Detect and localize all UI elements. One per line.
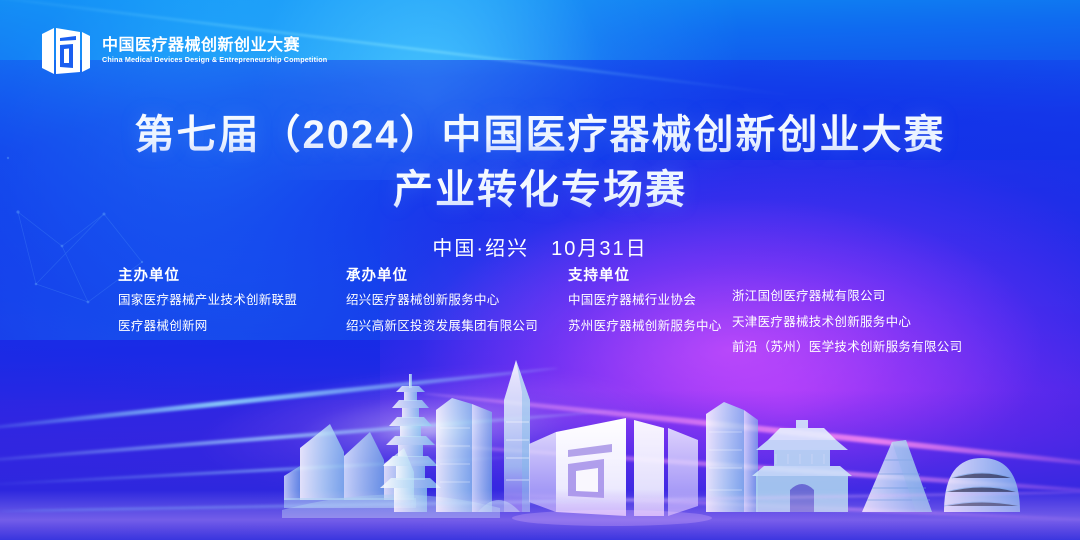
title-line-1: 第七届（2024）中国医疗器械创新创业大赛 [0,108,1080,163]
organizer-item: 中国医疗器械行业协会 [568,294,732,307]
organizer-column-host: 主办单位 国家医疗器械产业技术创新联盟 医疗器械创新网 [118,264,346,345]
organizers-section: 主办单位 国家医疗器械产业技术创新联盟 医疗器械创新网 承办单位 绍兴医疗器械创… [118,264,992,367]
organizer-column-organizer: 承办单位 绍兴医疗器械创新服务中心 绍兴高新区投资发展集团有限公司 [346,264,568,345]
brand-name-cn: 中国医疗器械创新创业大赛 [102,38,337,55]
organizer-heading: 承办单位 [346,264,568,285]
location-date: 中国·绍兴 10月31日 [0,232,1080,261]
open-door-logo-icon [40,26,92,76]
organizer-column-supporter: 支持单位 中国医疗器械行业协会 苏州医疗器械创新服务中心 [568,264,732,345]
brand-logo[interactable]: 中国医疗器械创新创业大赛 China Medical Devices Desig… [40,26,337,76]
organizer-item: 浙江国创医疗器械有限公司 [732,290,992,303]
organizer-item: 绍兴医疗器械创新服务中心 [346,294,568,307]
organizer-item: 国家医疗器械产业技术创新联盟 [118,294,346,307]
organizer-heading: 支持单位 [568,264,732,285]
city-skyline-illustration [0,340,1080,540]
organizer-item: 天津医疗器械技术创新服务中心 [732,316,992,329]
organizer-item: 前沿（苏州）医学技术创新服务有限公司 [732,341,992,354]
organizer-item: 医疗器械创新网 [118,320,346,333]
organizer-column-supporter-extra: 浙江国创医疗器械有限公司 天津医疗器械技术创新服务中心 前沿（苏州）医学技术创新… [732,264,992,367]
brand-name-en: China Medical Devices Design & Entrepren… [102,56,327,64]
skyscraper-tall-icon [504,360,530,512]
organizer-item: 绍兴高新区投资发展集团有限公司 [346,320,568,333]
organizer-item: 苏州医疗器械创新服务中心 [568,320,732,333]
organizer-heading: 主办单位 [118,264,346,285]
title-block: 第七届（2024）中国医疗器械创新创业大赛 产业转化专场赛 中国·绍兴 10月3… [0,108,1080,261]
event-poster: 中国医疗器械创新创业大赛 China Medical Devices Desig… [0,0,1080,540]
title-line-2: 产业转化专场赛 [0,163,1080,218]
skyline-ground-glow [0,490,1080,540]
